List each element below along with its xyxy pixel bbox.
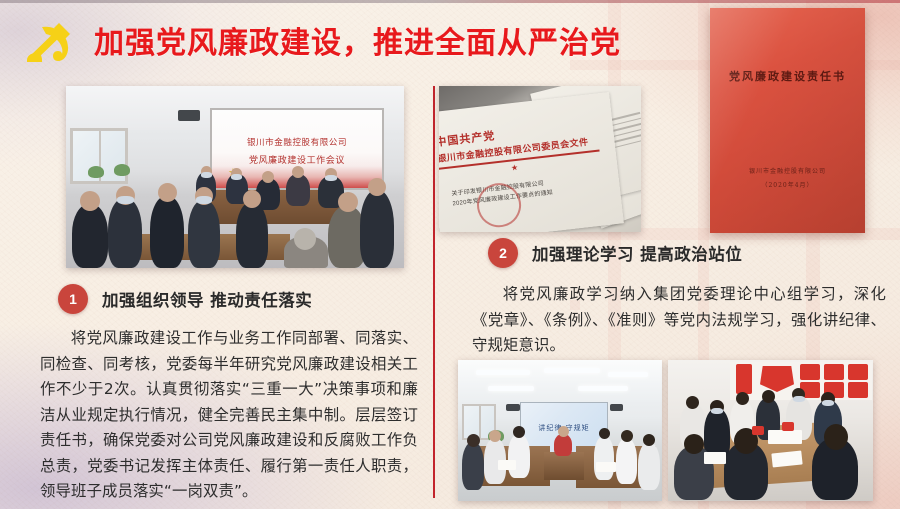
document-sheet-front: 中国共产党 银川市金融控股有限公司委员会文件 ★ 关于印发银川市金融控股有限公司… xyxy=(439,92,624,232)
section-1-heading: 1 加强组织领导 推动责任落实 xyxy=(58,284,312,314)
top-hairline xyxy=(0,0,900,3)
photo-discipline-study-session: 讲纪律 守规矩 xyxy=(458,360,662,501)
section-1-title: 加强组织领导 推动责任落实 xyxy=(102,287,312,311)
column-divider xyxy=(433,86,435,498)
photo-screen-line2: 党风廉政建设工作会议 xyxy=(212,153,382,166)
photo-responsibility-agreement-booklet: 党风廉政建设责任书 银川市金融控股有限公司 （2020年4月） xyxy=(710,8,865,233)
photo-screen-line1: 银川市金融控股有限公司 xyxy=(212,136,382,148)
page-title: 加强党风廉政建设，推进全面从严治党 xyxy=(94,18,621,62)
section-2-body: 将党风廉政学习纳入集团党委理论中心组学习，深化《党章》、《条例》、《准则》等党内… xyxy=(472,282,886,359)
section-1-badge: 1 xyxy=(58,284,88,314)
section-2-badge: 2 xyxy=(488,238,518,268)
slide-canvas: 加强党风廉政建设，推进全面从严治党 银川市金融控股有限公司 党风廉政建设工作会议… xyxy=(0,0,900,509)
party-hammer-sickle-emblem-icon xyxy=(22,17,78,63)
photo-projector xyxy=(178,110,200,121)
section-1-body: 将党风廉政建设工作与业务工作同部署、同落实、同检查、同考核，党委每半年研究党风廉… xyxy=(40,326,418,505)
photo-theory-study-group-meeting xyxy=(668,360,873,501)
document-star-icon: ★ xyxy=(510,163,518,173)
section-2-title: 加强理论学习 提高政治站位 xyxy=(532,241,742,265)
photo-party-committee-documents: 中国共产党 银川市金融控股有限公司委员会文件 ★ 关于印发银川市金融控股有限公司… xyxy=(439,86,641,232)
photo-party-conduct-meeting: 银川市金融控股有限公司 党风廉政建设工作会议 ★ xyxy=(66,86,404,268)
section-2-heading: 2 加强理论学习 提高政治站位 xyxy=(488,238,742,268)
